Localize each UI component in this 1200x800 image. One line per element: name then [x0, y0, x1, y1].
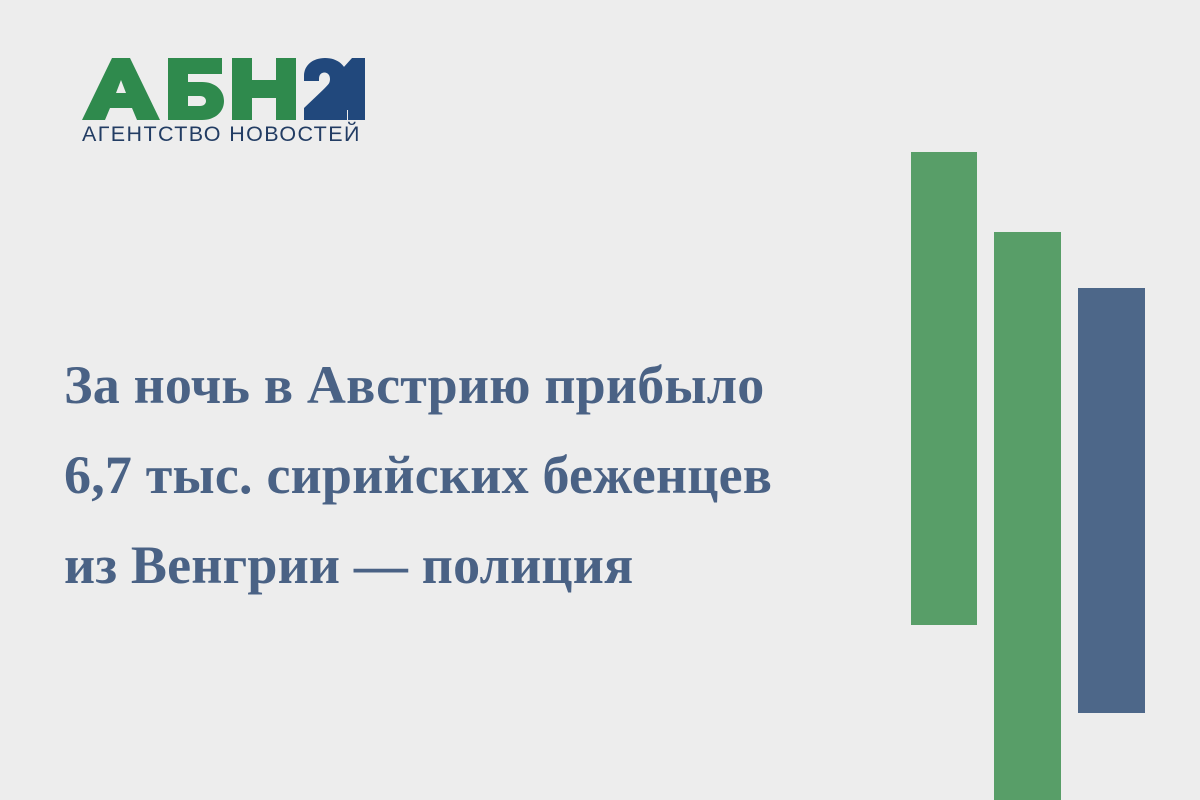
news-card-canvas: АГЕНТСТВО НОВОСТЕЙ За ночь в Австрию при… — [0, 0, 1200, 800]
logo-wordmark-icon — [82, 58, 367, 120]
headline-line-1: За ночь в Австрию прибыло — [64, 340, 864, 430]
decorative-bar-chart — [900, 0, 1200, 800]
headline-line-3: из Венгрии — полиция — [64, 520, 864, 610]
logo-tagline: АГЕНТСТВО НОВОСТЕЙ — [82, 124, 372, 146]
chart-bar-2 — [994, 232, 1061, 800]
chart-bar-3 — [1078, 288, 1145, 713]
headline-line-2: 6,7 тыс. сирийских беженцев — [64, 430, 864, 520]
headline: За ночь в Австрию прибыло 6,7 тыс. сирий… — [64, 340, 864, 610]
brand-logo[interactable]: АГЕНТСТВО НОВОСТЕЙ — [82, 58, 372, 158]
chart-bar-1 — [911, 152, 977, 625]
